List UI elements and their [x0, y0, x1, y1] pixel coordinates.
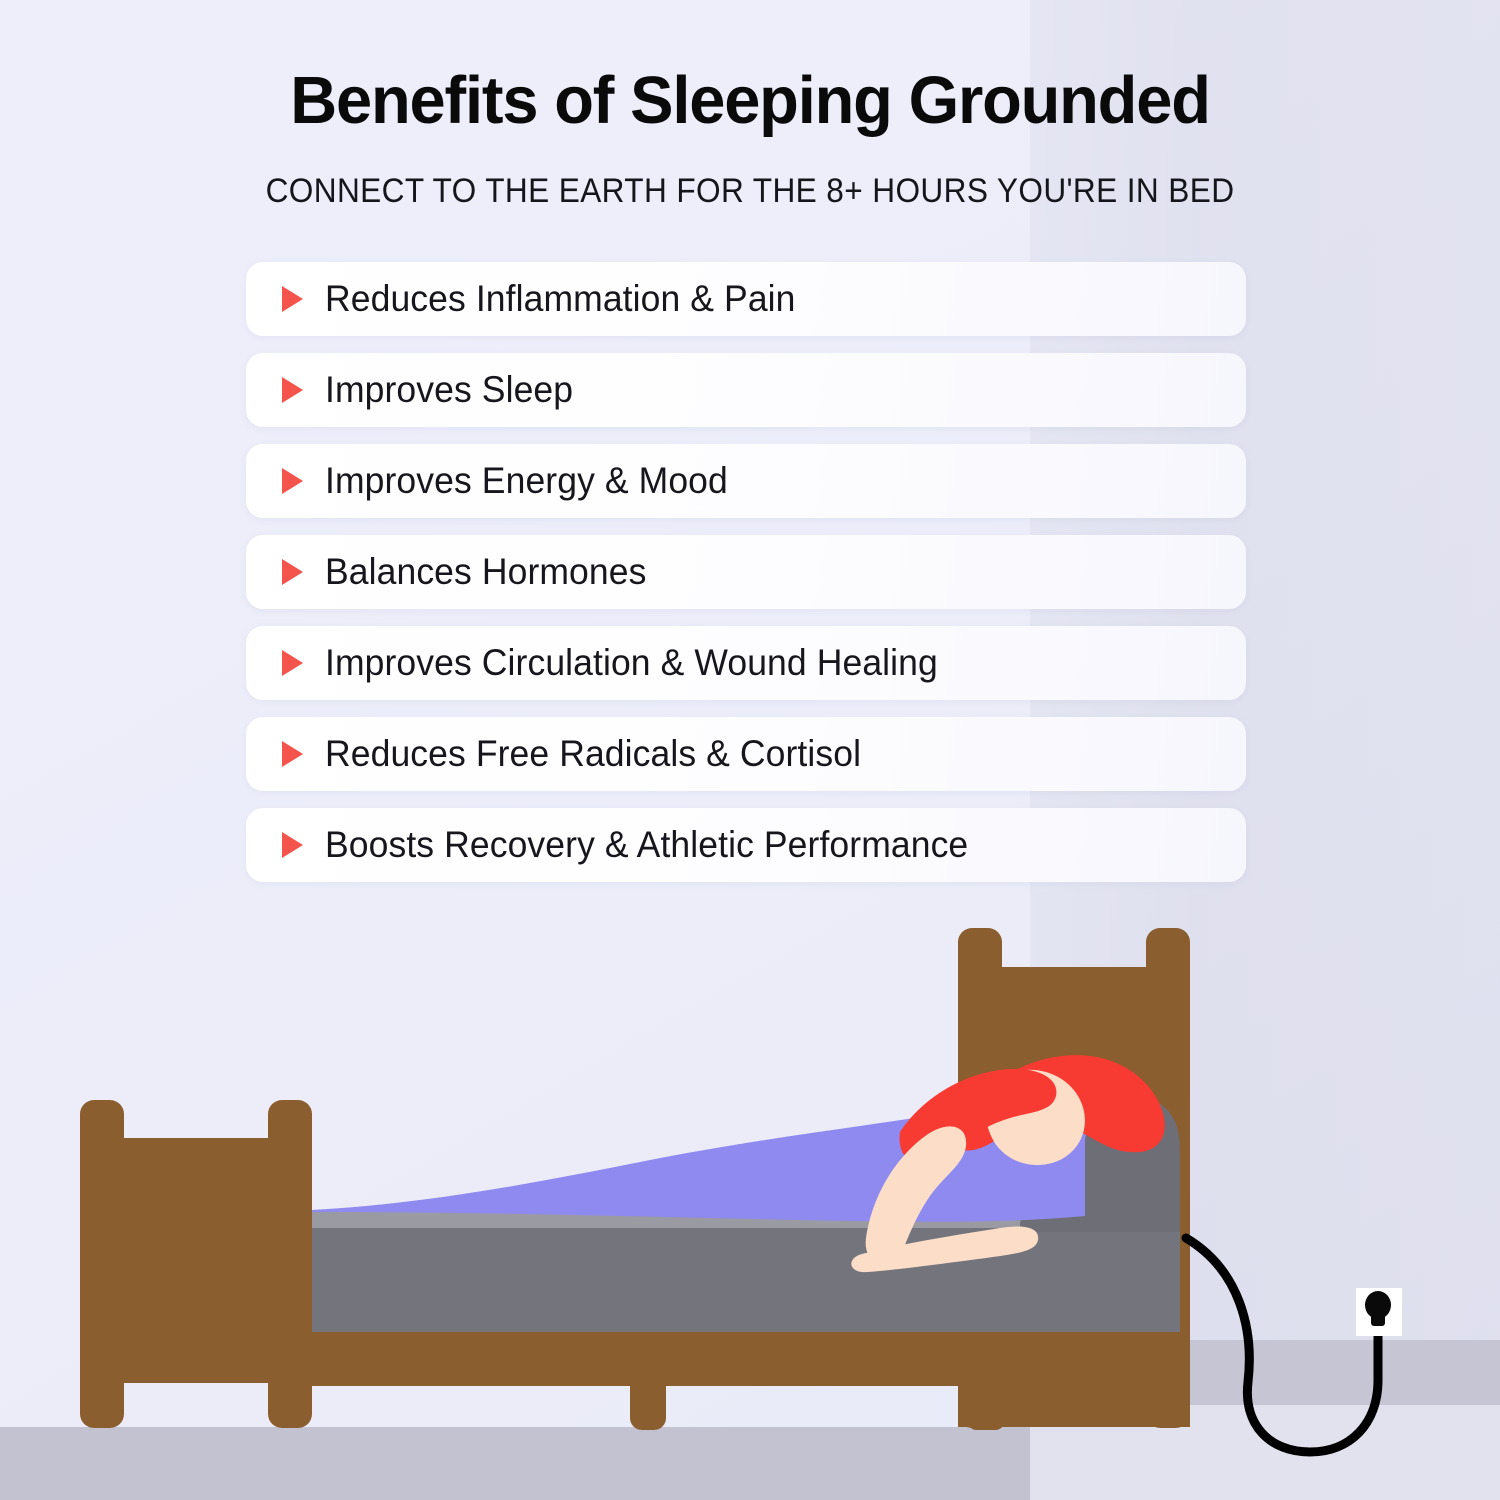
side-rail	[300, 1330, 1180, 1386]
footboard	[80, 1100, 312, 1428]
mattress	[312, 1228, 1180, 1332]
wall-outlet[interactable]	[1356, 1288, 1402, 1336]
bed-leg-b	[966, 1330, 1006, 1430]
grounding-cord	[1186, 1238, 1378, 1452]
bedroom-illustration	[0, 0, 1500, 1500]
footboard-panel	[80, 1138, 312, 1383]
outlet-plug-body	[1371, 1310, 1385, 1326]
bed-leg-middle	[630, 1330, 666, 1430]
infographic-page: Benefits of Sleeping Grounded CONNECT TO…	[0, 0, 1500, 1500]
